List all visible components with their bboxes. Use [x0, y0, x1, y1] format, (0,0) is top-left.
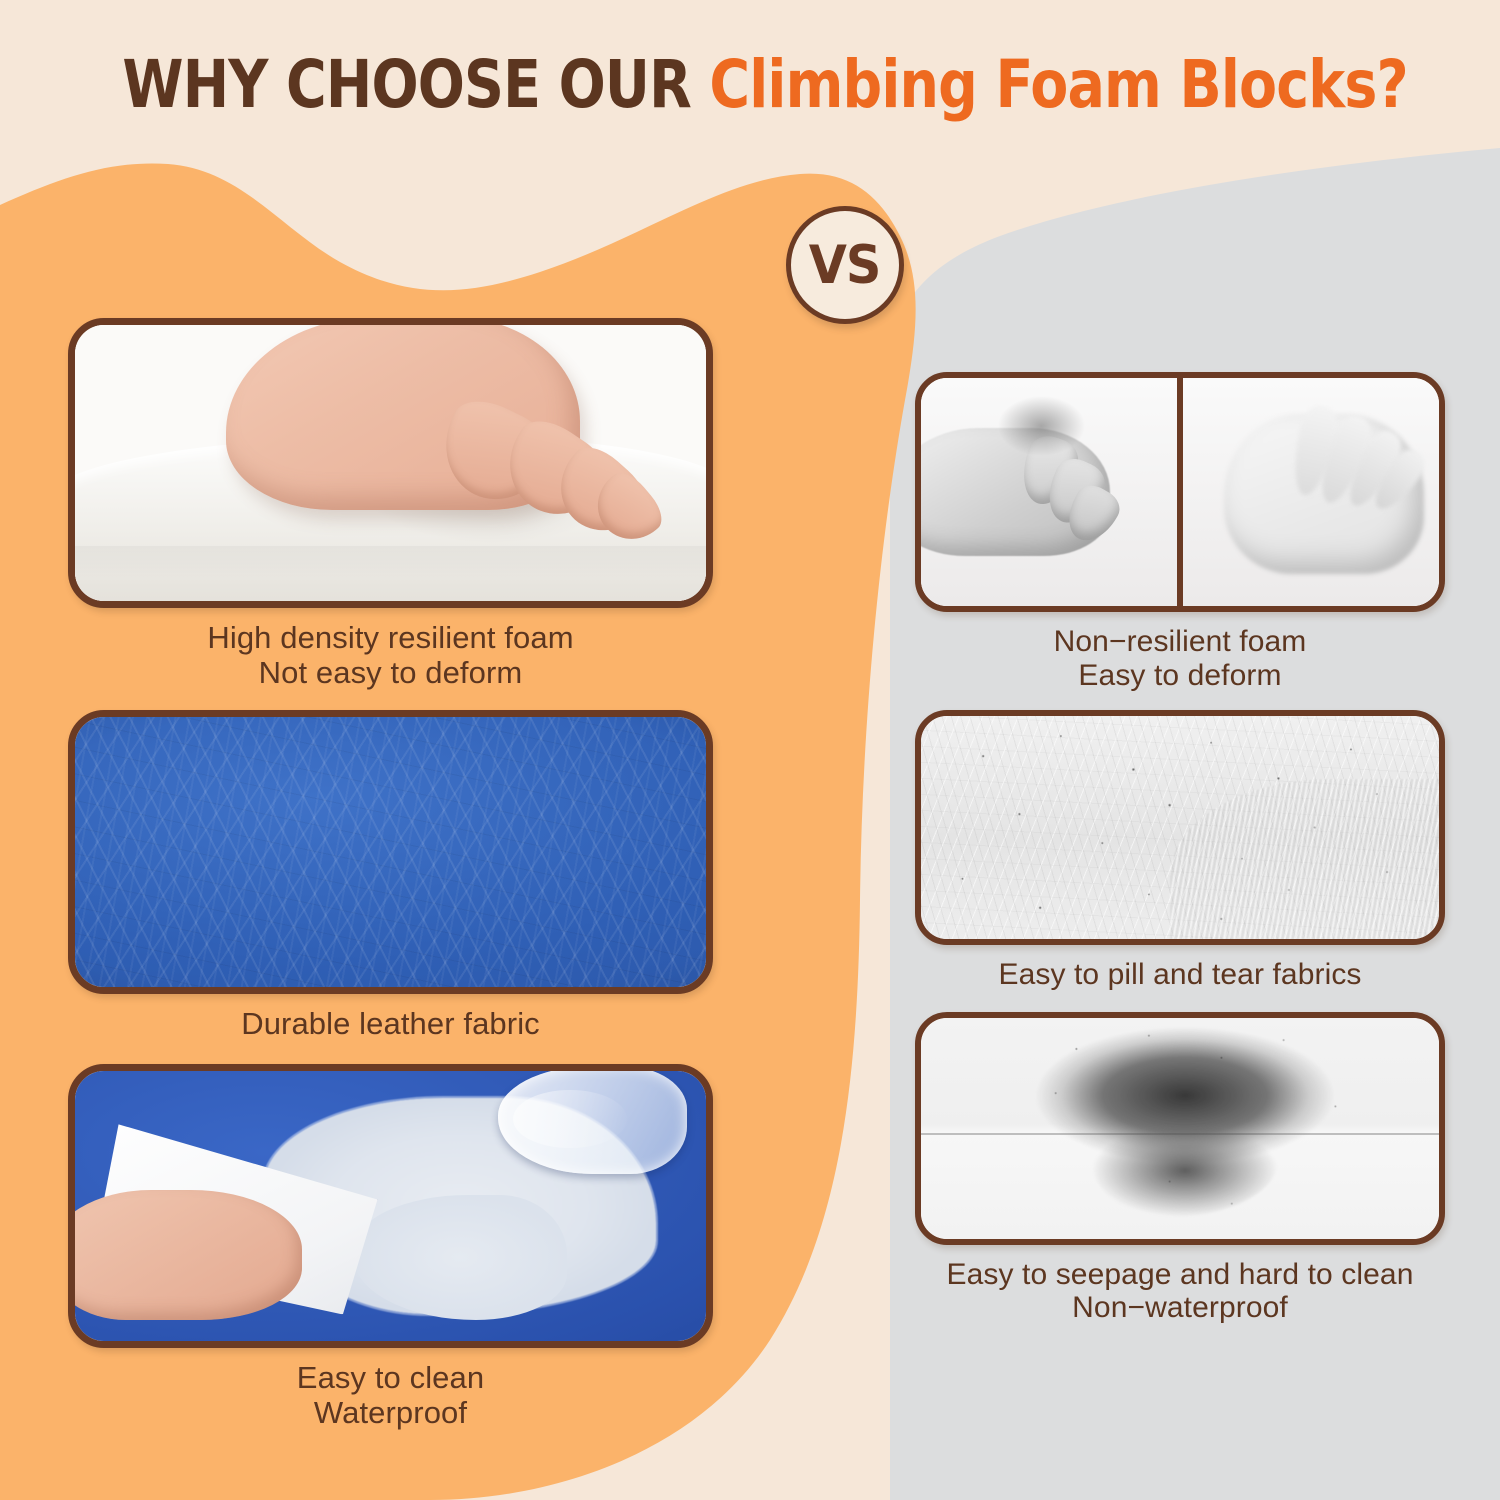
page-title-primary: WHY CHOOSE OUR [122, 46, 709, 123]
ours-column: High density resilient foam Not easy to … [68, 318, 713, 1431]
ours-caption-2: Durable leather fabric [68, 1007, 713, 1042]
waterproof-clean-card[interactable] [68, 1064, 713, 1348]
ours-item-3: Easy to clean Waterproof [68, 1064, 713, 1430]
hand-pressing-resilient-foam-photo [75, 325, 706, 601]
dark-liquid-seeping-stain-photo [921, 1018, 1439, 1239]
pilled-torn-fabric-closeup-photo [921, 716, 1439, 939]
theirs-caption-1: Non−resilient foam Easy to deform [915, 625, 1445, 692]
page-title-accent: Climbing Foam Blocks? [709, 46, 1407, 123]
theirs-caption-3: Easy to seepage and hard to clean Non−wa… [915, 1258, 1445, 1325]
ours-caption-3: Easy to clean Waterproof [68, 1361, 713, 1430]
resilient-foam-card[interactable] [68, 318, 713, 608]
hand-pressing-foam-and-leftover-imprint-photo [921, 378, 1439, 606]
non-resilient-foam-card[interactable] [915, 372, 1445, 612]
versus-badge-label: VS [809, 235, 881, 296]
ours-item-2: Durable leather fabric [68, 710, 713, 1042]
blue-leather-fabric-swatch-photo [75, 717, 706, 987]
page-title: WHY CHOOSE OUR Climbing Foam Blocks? [0, 52, 1500, 118]
theirs-item-2: Easy to pill and tear fabrics [915, 710, 1445, 992]
theirs-item-1: Non−resilient foam Easy to deform [915, 372, 1445, 692]
pilled-fabric-card[interactable] [915, 710, 1445, 945]
theirs-caption-2: Easy to pill and tear fabrics [915, 958, 1445, 992]
hand-wiping-spilled-milk-on-blue-mat-photo [75, 1071, 706, 1341]
theirs-column: Non−resilient foam Easy to deform Easy t… [915, 372, 1445, 1325]
leather-fabric-card[interactable] [68, 710, 713, 994]
ours-caption-1: High density resilient foam Not easy to … [68, 621, 713, 690]
seepage-stain-card[interactable] [915, 1012, 1445, 1245]
ours-item-1: High density resilient foam Not easy to … [68, 318, 713, 690]
infographic-canvas: WHY CHOOSE OUR Climbing Foam Blocks? VS [0, 0, 1500, 1500]
theirs-item-3: Easy to seepage and hard to clean Non−wa… [915, 1012, 1445, 1325]
versus-badge: VS [786, 206, 904, 324]
